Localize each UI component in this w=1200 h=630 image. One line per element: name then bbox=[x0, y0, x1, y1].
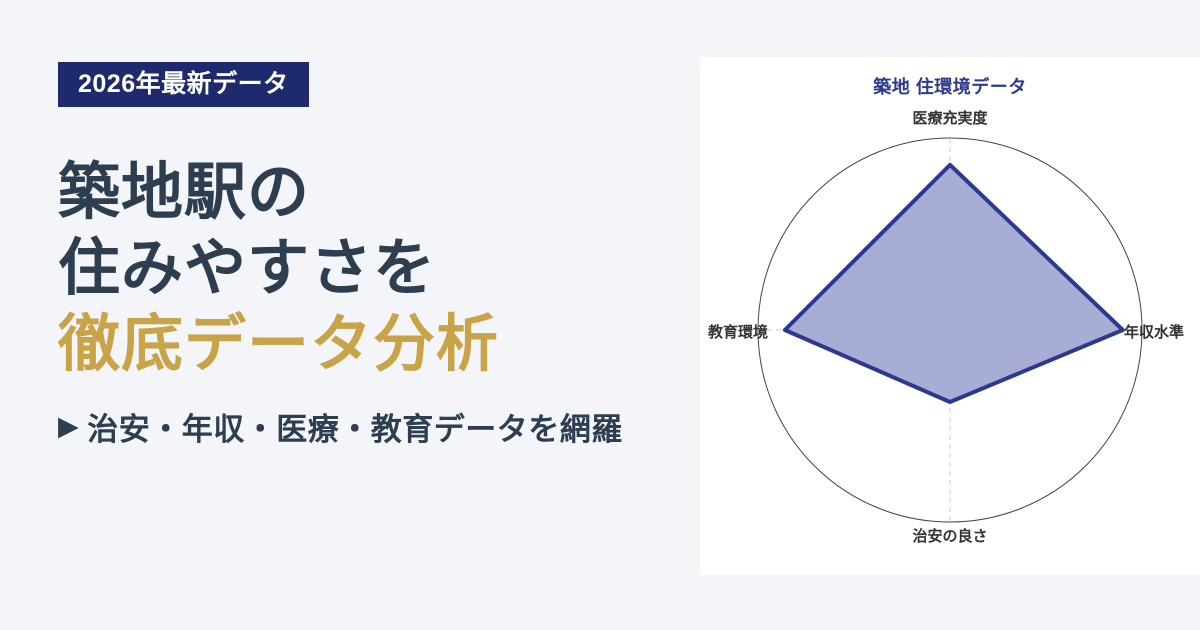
radar-axis-label-top: 医療充実度 bbox=[912, 107, 987, 128]
subtitle: ▶ 治安・年収・医療・教育データを網羅 bbox=[58, 404, 700, 449]
radar-data-polygon bbox=[785, 165, 1123, 402]
chart-panel: 築地 住環境データ 医療充実度 年収水準 治安の良さ 教育環境 bbox=[700, 57, 1200, 575]
radar-axis-label-right: 年収水準 bbox=[1124, 321, 1184, 342]
infographic-canvas: 2026年最新データ 築地駅の 住みやすさを 徹底データ分析 ▶ 治安・年収・医… bbox=[0, 0, 1200, 630]
headline-line-3: 徹底データ分析 bbox=[58, 307, 700, 383]
radar-chart: 医療充実度 年収水準 治安の良さ 教育環境 bbox=[700, 57, 1200, 575]
date-badge: 2026年最新データ bbox=[58, 62, 309, 107]
headline-column: 2026年最新データ 築地駅の 住みやすさを 徹底データ分析 ▶ 治安・年収・医… bbox=[0, 0, 700, 630]
headline-line-1: 築地駅の bbox=[58, 155, 700, 231]
radar-axis-label-bottom: 治安の良さ bbox=[912, 525, 987, 546]
page-title: 築地駅の 住みやすさを 徹底データ分析 bbox=[58, 155, 700, 382]
radar-axis-label-left: 教育環境 bbox=[708, 321, 768, 342]
headline-line-2: 住みやすさを bbox=[58, 231, 700, 307]
subtitle-text: 治安・年収・医療・教育データを網羅 bbox=[87, 404, 623, 449]
radar-chart-svg bbox=[700, 57, 1200, 575]
triangle-right-icon: ▶ bbox=[58, 413, 79, 440]
